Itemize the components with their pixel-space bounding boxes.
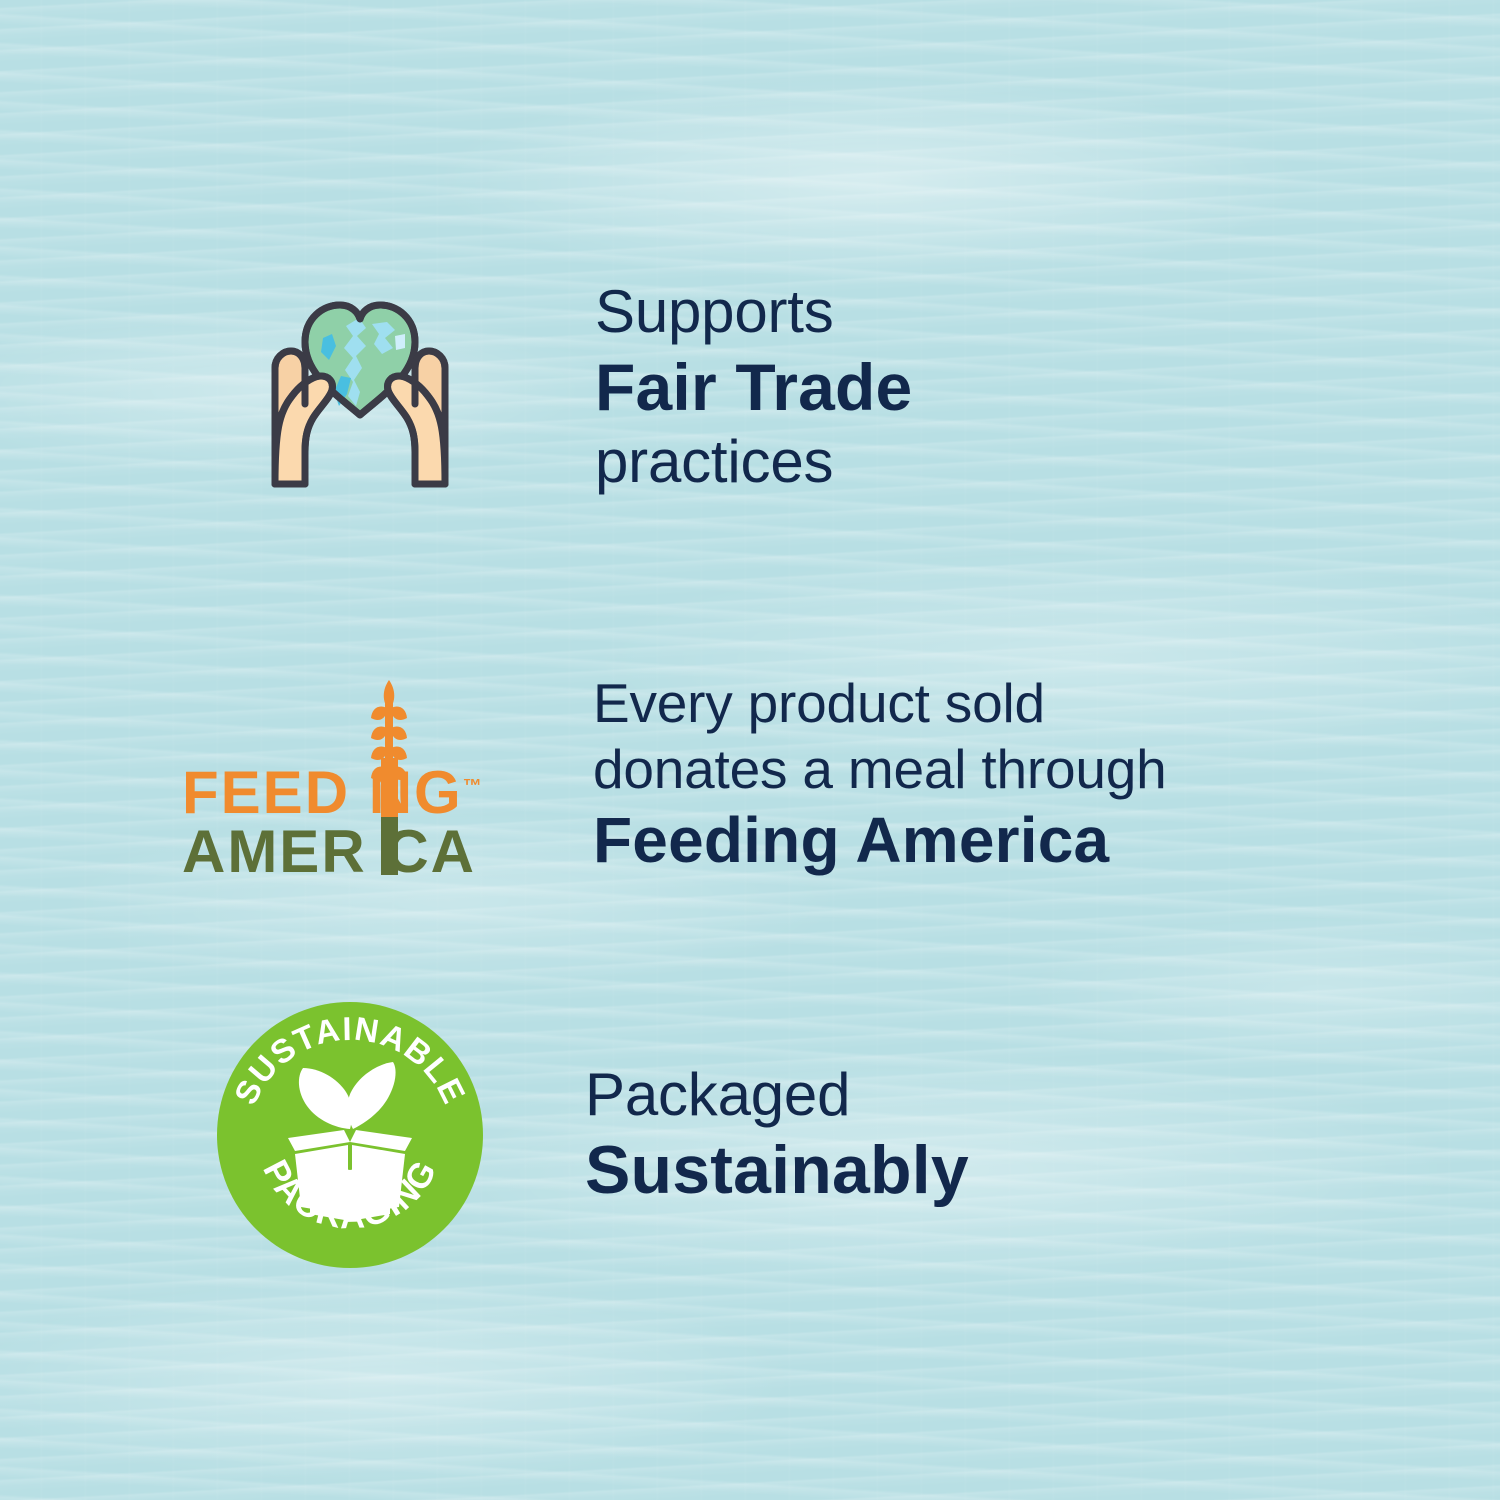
trademark-symbol: ™ — [463, 776, 482, 797]
fair-trade-line-3: practices — [595, 426, 1390, 497]
logo-stalk-i-upper — [381, 758, 398, 820]
logo-word-america: AMERICA — [182, 817, 538, 886]
fair-trade-line-1: Supports — [595, 276, 1390, 347]
packaging-line-2: Sustainably — [585, 1130, 1400, 1211]
feeding-line-1: Every product sold — [593, 671, 1395, 736]
product-benefits-graphic: Supports Fair Trade practices — [0, 0, 1500, 1500]
feeding-line-3: Feeding America — [593, 802, 1395, 878]
feature-fair-trade: Supports Fair Trade practices — [210, 262, 1390, 512]
fair-trade-text-block: Supports Fair Trade practices — [510, 276, 1390, 497]
hands-holding-earth-heart-icon — [210, 272, 510, 502]
feature-feeding-america: FEEDING™ AMERICA Every product sold dona… — [175, 640, 1395, 910]
packaging-line-1: Packaged — [585, 1059, 1400, 1130]
packaging-text-block: Packaged Sustainably — [500, 1059, 1400, 1211]
sustainable-packaging-badge: SUSTAINABLE PACKAGING — [200, 1000, 500, 1270]
feeding-america-text-block: Every product sold donates a meal throug… — [545, 671, 1395, 878]
fair-trade-line-2: Fair Trade — [595, 348, 1390, 427]
feeding-line-2: donates a meal through — [593, 737, 1395, 802]
logo-stalk-i-lower — [381, 817, 398, 875]
feeding-america-logo: FEEDING™ AMERICA — [175, 675, 545, 875]
feature-sustainable-packaging: SUSTAINABLE PACKAGING — [200, 1000, 1400, 1270]
